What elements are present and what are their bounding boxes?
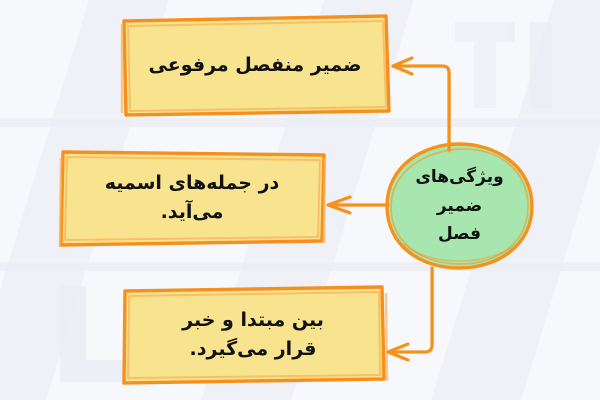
diagram-canvas: ضمیر منفصل مرفوعی در جمله‌های اسمیه می‌آ… [0,0,600,400]
branch-label-bottom: بین مبتدا و خبر قرار می‌گیرد. [118,283,388,387]
branch-node-middle[interactable]: در جمله‌های اسمیه می‌آید. [56,146,328,250]
node-layer: ضمیر منفصل مرفوعی در جمله‌های اسمیه می‌آ… [0,0,600,400]
branch-label-top: ضمیر منفصل مرفوعی [118,12,392,119]
center-node[interactable]: ویژگی‌های ضمیر فصل [382,140,537,272]
branch-node-bottom[interactable]: بین مبتدا و خبر قرار می‌گیرد. [118,283,388,387]
center-node-label: ویژگی‌های ضمیر فصل [382,140,537,272]
branch-label-middle: در جمله‌های اسمیه می‌آید. [56,146,328,250]
branch-node-top[interactable]: ضمیر منفصل مرفوعی [118,12,392,119]
